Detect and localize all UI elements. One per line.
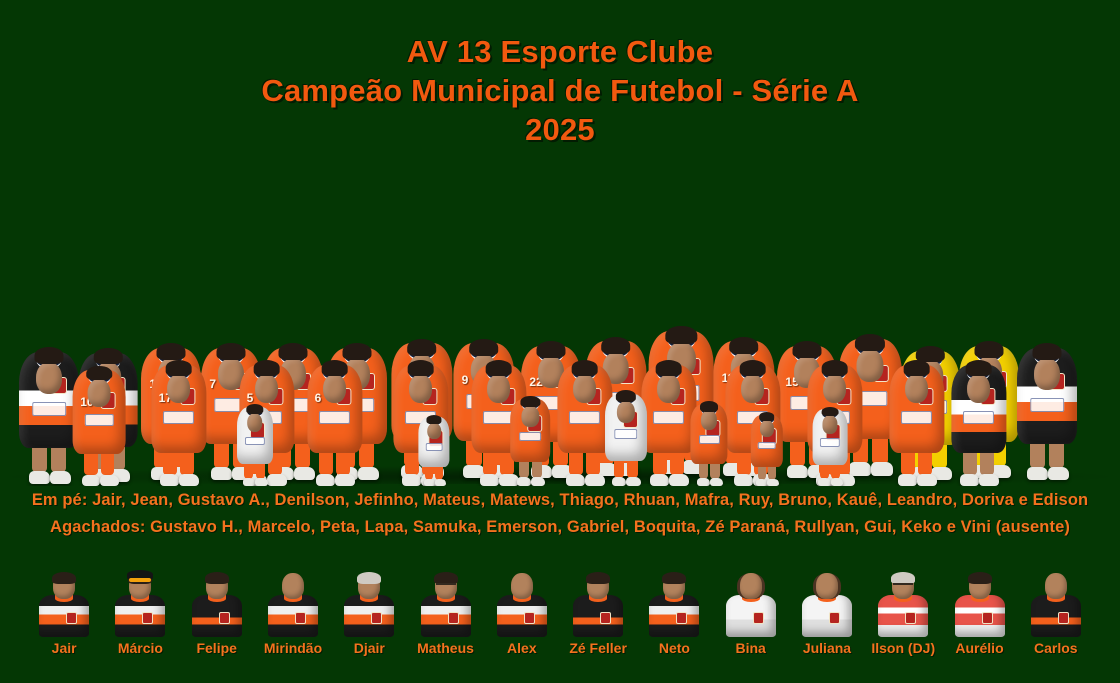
team-member-figure	[812, 312, 848, 486]
portrait-shirt	[497, 595, 547, 637]
hair	[87, 366, 113, 381]
club-crest-icon	[982, 612, 993, 624]
head	[760, 420, 774, 437]
title-line-1: AV 13 Esporte Clube	[0, 32, 1120, 71]
sponsor-patch	[1030, 398, 1064, 412]
team-member-figure: 17	[150, 210, 207, 486]
portrait-bust	[571, 573, 625, 637]
portrait-shirt	[573, 595, 623, 637]
head	[167, 374, 191, 403]
portrait-cell[interactable]: Carlos	[1018, 560, 1094, 655]
staff-portrait-strip: Jair Márcio Felipe	[0, 560, 1120, 655]
portrait-bust	[495, 573, 549, 637]
glasses-icon	[893, 583, 913, 591]
portrait-cell[interactable]: Djair	[331, 560, 407, 655]
club-crest-icon	[295, 612, 306, 624]
team-member-figure	[418, 330, 450, 486]
portrait-cell[interactable]: Matheus	[407, 560, 483, 655]
sponsor-patch	[519, 432, 541, 442]
hair	[246, 404, 263, 414]
portrait-shirt	[649, 595, 699, 637]
head	[323, 374, 347, 403]
club-crest-icon	[905, 612, 916, 624]
club-crest-icon	[829, 612, 840, 624]
team-photo-canvas: 12 7 18 3	[0, 178, 1120, 486]
head	[701, 410, 717, 430]
portrait-cell[interactable]: Márcio	[102, 560, 178, 655]
portrait-cell[interactable]: Ilson (DJ)	[865, 560, 941, 655]
hair	[616, 390, 636, 402]
portrait-bust	[800, 573, 854, 637]
hair	[485, 360, 512, 375]
portrait-cell[interactable]: Aurélio	[941, 560, 1017, 655]
team-photo: 12 7 18 3	[0, 178, 1120, 486]
sponsor-patch	[569, 411, 600, 424]
head	[617, 401, 635, 423]
shoe-left	[960, 474, 979, 486]
head	[657, 374, 681, 403]
shoe-left	[517, 477, 531, 486]
sponsor-patch	[245, 437, 265, 446]
sponsor-patch	[653, 411, 684, 424]
jersey-number: 7	[209, 377, 216, 391]
portrait-shirt	[421, 595, 471, 637]
hair	[205, 572, 229, 584]
shoe-left	[787, 465, 808, 478]
sponsor-patch	[699, 435, 720, 444]
portrait-shirt	[115, 595, 165, 637]
portrait-head	[282, 573, 304, 599]
portrait-shirt	[39, 595, 89, 637]
hair	[321, 360, 348, 375]
portrait-name: Felipe	[196, 641, 236, 655]
sponsor-patch	[425, 443, 442, 450]
portrait-name: Matheus	[417, 641, 474, 655]
sponsor-patch	[84, 414, 114, 427]
portrait-head	[740, 573, 762, 599]
portrait-name: Djair	[354, 641, 385, 655]
portrait-bust	[419, 573, 473, 637]
hair	[586, 572, 610, 584]
hair	[968, 572, 992, 584]
team-member-figure	[950, 210, 1007, 486]
portrait-cell[interactable]: Felipe	[179, 560, 255, 655]
glasses-icon	[436, 583, 456, 591]
head	[1034, 358, 1060, 390]
portrait-cell[interactable]: Zé Feller	[560, 560, 636, 655]
portrait-cell[interactable]: Jair	[26, 560, 102, 655]
shoe-left	[566, 474, 585, 486]
hair	[1033, 343, 1062, 360]
club-crest-icon	[142, 612, 153, 624]
team-member-figure: 10	[72, 222, 127, 486]
portrait-name: Carlos	[1034, 641, 1078, 655]
team-member-figure	[236, 306, 273, 486]
club-crest-icon	[448, 612, 459, 624]
portrait-cell[interactable]: Neto	[636, 560, 712, 655]
portrait-bust	[647, 573, 701, 637]
sponsor-patch	[758, 442, 776, 450]
shoe-right	[100, 475, 118, 486]
shoe-left	[29, 471, 50, 484]
shoe-left	[697, 478, 710, 486]
portrait-name: Neto	[659, 641, 690, 655]
team-member-figure	[640, 210, 697, 486]
shoe-right	[979, 474, 998, 486]
sponsor-patch	[32, 402, 66, 416]
portrait-bust	[113, 573, 167, 637]
head	[247, 413, 263, 432]
shoe-left	[818, 478, 830, 486]
shoe-right	[917, 474, 936, 486]
hair	[521, 396, 540, 407]
shoe-left	[650, 474, 669, 486]
portrait-bust	[37, 573, 91, 637]
shoe-right	[1048, 467, 1069, 480]
sponsor-patch	[901, 411, 932, 424]
team-member-figure	[750, 324, 783, 486]
shoe-right	[831, 478, 843, 486]
portrait-name: Alex	[507, 641, 537, 655]
hair	[903, 360, 930, 375]
hair	[759, 412, 775, 421]
portrait-cell[interactable]: Juliana	[789, 560, 865, 655]
club-crest-icon	[1058, 612, 1069, 624]
portrait-name: Bina	[736, 641, 766, 655]
portrait-shirt	[955, 595, 1005, 637]
portrait-bust	[876, 573, 930, 637]
shoe-right	[50, 471, 71, 484]
portrait-name: Aurélio	[955, 641, 1003, 655]
head	[522, 406, 539, 427]
shoe-right	[626, 477, 641, 486]
page-title: AV 13 Esporte Clube Campeão Municipal de…	[0, 32, 1120, 149]
portrait-bust	[342, 573, 396, 637]
portrait-shirt	[1031, 595, 1081, 637]
sponsor-patch	[963, 411, 994, 424]
portrait-bust	[266, 573, 320, 637]
team-member-figure	[604, 276, 647, 486]
shoe-right	[179, 474, 198, 486]
hair	[165, 360, 192, 375]
sponsor-patch	[614, 429, 638, 439]
portrait-bust	[724, 573, 778, 637]
cap-icon	[127, 570, 153, 579]
shoe-left	[160, 474, 179, 486]
shoe-left	[898, 474, 917, 486]
portrait-name: Juliana	[803, 641, 851, 655]
caption-crouching-row: Agachados: Gustavo H., Marcelo, Peta, La…	[0, 514, 1120, 541]
portrait-shirt	[878, 595, 928, 637]
hair	[822, 407, 839, 417]
portrait-bust	[953, 573, 1007, 637]
portrait-name: Márcio	[118, 641, 163, 655]
club-crest-icon	[219, 612, 230, 624]
portrait-name: Zé Feller	[569, 641, 627, 655]
hair	[427, 415, 442, 424]
club-crest-icon	[66, 612, 77, 624]
shoe-right	[335, 474, 354, 486]
portrait-bust	[1029, 573, 1083, 637]
shoe-left	[756, 479, 767, 486]
hair	[357, 572, 381, 584]
portrait-name: Mirindão	[264, 641, 322, 655]
head	[36, 362, 62, 394]
club-crest-icon	[753, 612, 764, 624]
portrait-shirt	[726, 595, 776, 637]
hair	[700, 401, 718, 411]
team-member-figure	[510, 288, 551, 486]
jersey-number: 9	[462, 373, 469, 387]
hair	[655, 360, 682, 375]
shoe-right	[767, 479, 778, 486]
sponsor-patch	[820, 438, 839, 446]
portrait-cell[interactable]: Bina	[713, 560, 789, 655]
head	[487, 374, 511, 403]
team-member-figure	[888, 210, 945, 486]
portrait-head	[816, 573, 838, 599]
head	[905, 374, 929, 403]
head	[427, 423, 441, 440]
shoe-left	[480, 474, 499, 486]
portrait-shirt	[192, 595, 242, 637]
head	[573, 374, 597, 403]
head	[822, 415, 837, 434]
shoe-right	[531, 477, 545, 486]
shoe-left	[243, 478, 256, 486]
hair	[52, 572, 76, 584]
shoe-right	[710, 478, 723, 486]
portrait-cell[interactable]: Mirindão	[255, 560, 331, 655]
shoe-right	[435, 479, 446, 486]
portrait-head	[1045, 573, 1067, 599]
hair	[35, 347, 64, 364]
shoe-right	[585, 474, 604, 486]
portrait-cell[interactable]: Alex	[484, 560, 560, 655]
title-line-2: Campeão Municipal de Futebol - Série A	[0, 71, 1120, 110]
shoe-left	[316, 474, 335, 486]
portrait-shirt	[268, 595, 318, 637]
caption-standing-row: Em pé: Jair, Jean, Gustavo A., Denilson,…	[0, 487, 1120, 514]
shoe-left	[211, 467, 232, 480]
team-member-figure: 6	[306, 210, 363, 486]
shoe-left	[612, 477, 627, 486]
portrait-shirt	[802, 595, 852, 637]
head	[88, 379, 111, 407]
club-crest-icon	[524, 612, 535, 624]
shoe-left	[424, 479, 435, 486]
hair	[965, 360, 992, 375]
shoe-right	[255, 478, 268, 486]
portrait-name: Jair	[52, 641, 77, 655]
hair	[662, 572, 686, 584]
club-crest-icon	[600, 612, 611, 624]
sponsor-patch	[163, 411, 194, 424]
team-member-figure	[1016, 180, 1078, 480]
portrait-shirt	[344, 595, 394, 637]
title-line-3: 2025	[0, 110, 1120, 149]
portrait-name: Ilson (DJ)	[871, 641, 935, 655]
portrait-bust	[190, 573, 244, 637]
club-crest-icon	[371, 612, 382, 624]
jersey-number: 6	[315, 391, 322, 405]
photo-caption: Em pé: Jair, Jean, Gustavo A., Denilson,…	[0, 487, 1120, 540]
club-crest-icon	[676, 612, 687, 624]
shoe-right	[669, 474, 688, 486]
team-member-figure	[690, 300, 728, 486]
shoe-left	[82, 475, 100, 486]
sponsor-patch	[319, 411, 350, 424]
hair	[571, 360, 598, 375]
head	[967, 374, 991, 403]
team-member-figure	[18, 184, 80, 484]
portrait-head	[511, 573, 533, 599]
shoe-left	[1027, 467, 1048, 480]
